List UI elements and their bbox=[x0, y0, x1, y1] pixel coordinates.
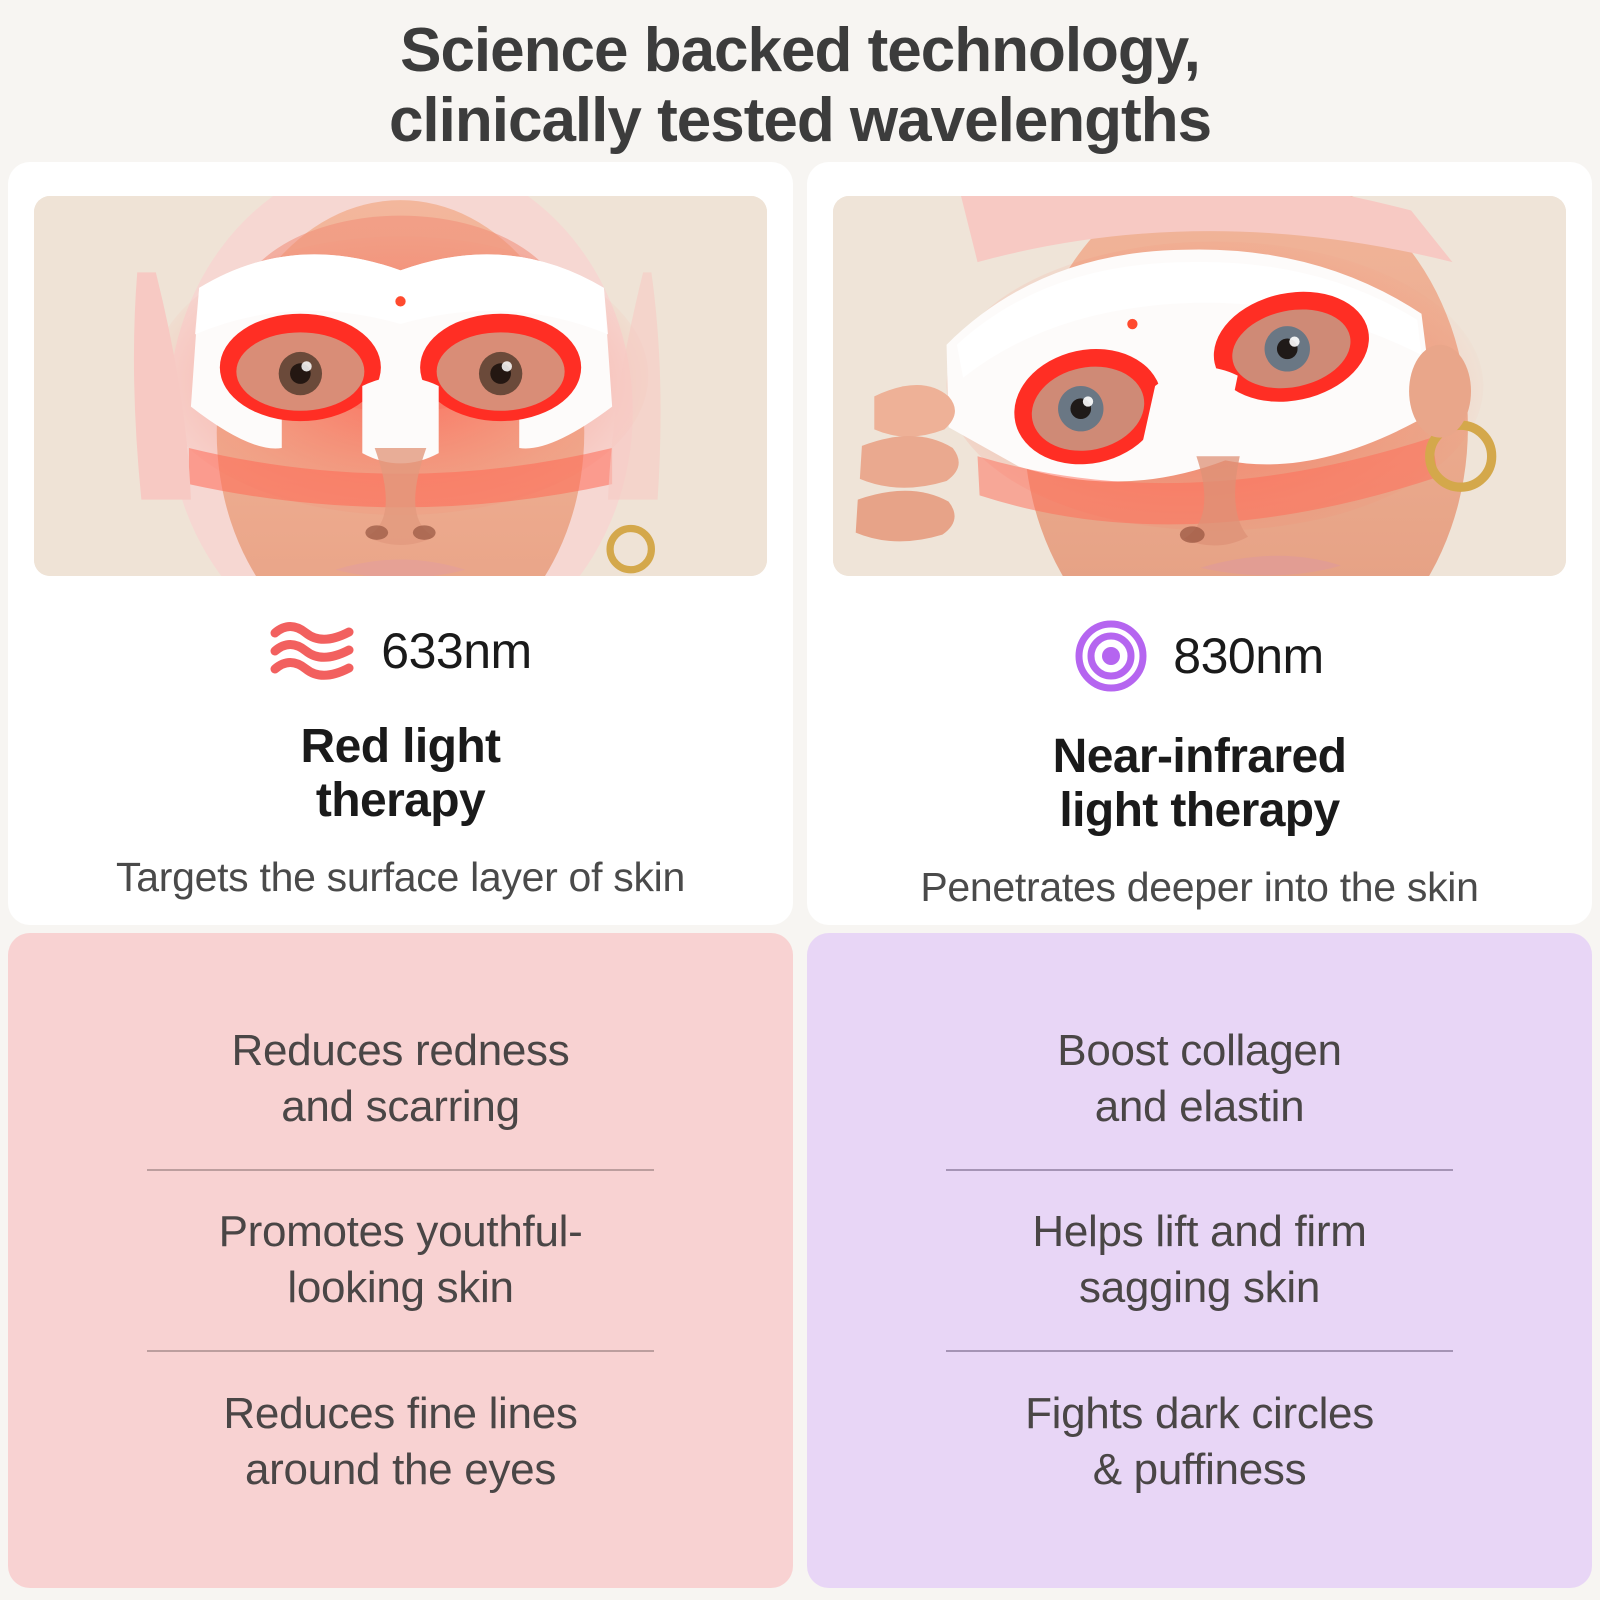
waves-icon bbox=[269, 620, 355, 682]
concentric-circles-icon bbox=[1075, 620, 1147, 692]
card-title-line-2: light therapy bbox=[1053, 784, 1347, 838]
page-title: Science backed technology, clinically te… bbox=[0, 16, 1600, 156]
benefit-line: Helps lift and firm bbox=[1032, 1207, 1366, 1256]
card-title-line-1: Red light bbox=[301, 720, 501, 774]
column-red-light: 633nm Red light therapy Targets the surf… bbox=[8, 162, 793, 1588]
card-red-light: 633nm Red light therapy Targets the surf… bbox=[8, 162, 793, 925]
card-title-line-2: therapy bbox=[301, 774, 501, 828]
benefit-divider bbox=[946, 1169, 1454, 1171]
benefit-item: Boost collagen and elastin bbox=[1057, 1023, 1341, 1136]
benefit-line: Reduces redness bbox=[232, 1026, 570, 1075]
benefit-item: Reduces redness and scarring bbox=[232, 1023, 570, 1136]
card-title-red-light: Red light therapy bbox=[301, 720, 501, 828]
benefit-line: around the eyes bbox=[245, 1445, 556, 1494]
benefits-panel-near-infrared: Boost collagen and elastin Helps lift an… bbox=[807, 933, 1592, 1588]
benefit-item: Helps lift and firm sagging skin bbox=[1032, 1204, 1366, 1317]
comparison-columns: 633nm Red light therapy Targets the surf… bbox=[0, 162, 1600, 1600]
benefit-line: Reduces fine lines bbox=[223, 1389, 577, 1438]
benefit-line: Boost collagen bbox=[1057, 1026, 1341, 1075]
benefit-line: Fights dark circles bbox=[1025, 1389, 1374, 1438]
photo-near-infrared-therapy bbox=[833, 196, 1566, 576]
benefit-line: and scarring bbox=[281, 1082, 520, 1131]
benefit-divider bbox=[147, 1350, 655, 1352]
benefit-line: Promotes youthful- bbox=[219, 1207, 583, 1256]
card-near-infrared: 830nm Near-infrared light therapy Penetr… bbox=[807, 162, 1592, 925]
benefits-panel-red-light: Reduces redness and scarring Promotes yo… bbox=[8, 933, 793, 1588]
photo-red-light-therapy bbox=[34, 196, 767, 576]
benefit-divider bbox=[946, 1350, 1454, 1352]
wavelength-value-830: 830nm bbox=[1173, 631, 1323, 681]
card-subtitle-red-light: Targets the surface layer of skin bbox=[116, 854, 685, 901]
page-title-line-2: clinically tested wavelengths bbox=[0, 86, 1600, 156]
card-title-line-1: Near-infrared bbox=[1053, 730, 1347, 784]
wavelength-badge-830: 830nm bbox=[1075, 620, 1323, 692]
benefit-item: Promotes youthful- looking skin bbox=[219, 1204, 583, 1317]
benefit-line: & puffiness bbox=[1093, 1445, 1307, 1494]
card-title-near-infrared: Near-infrared light therapy bbox=[1053, 730, 1347, 838]
card-subtitle-near-infrared: Penetrates deeper into the skin bbox=[920, 864, 1478, 911]
benefit-line: sagging skin bbox=[1079, 1263, 1320, 1312]
column-near-infrared: 830nm Near-infrared light therapy Penetr… bbox=[807, 162, 1592, 1588]
infographic-page: Science backed technology, clinically te… bbox=[0, 0, 1600, 1600]
benefit-item: Fights dark circles & puffiness bbox=[1025, 1386, 1374, 1499]
benefit-line: looking skin bbox=[287, 1263, 513, 1312]
wavelength-value-633: 633nm bbox=[381, 626, 531, 676]
wavelength-badge-633: 633nm bbox=[269, 620, 531, 682]
benefit-line: and elastin bbox=[1095, 1082, 1305, 1131]
benefit-item: Reduces fine lines around the eyes bbox=[223, 1386, 577, 1499]
benefit-divider bbox=[147, 1169, 655, 1171]
page-title-line-1: Science backed technology, bbox=[0, 16, 1600, 86]
